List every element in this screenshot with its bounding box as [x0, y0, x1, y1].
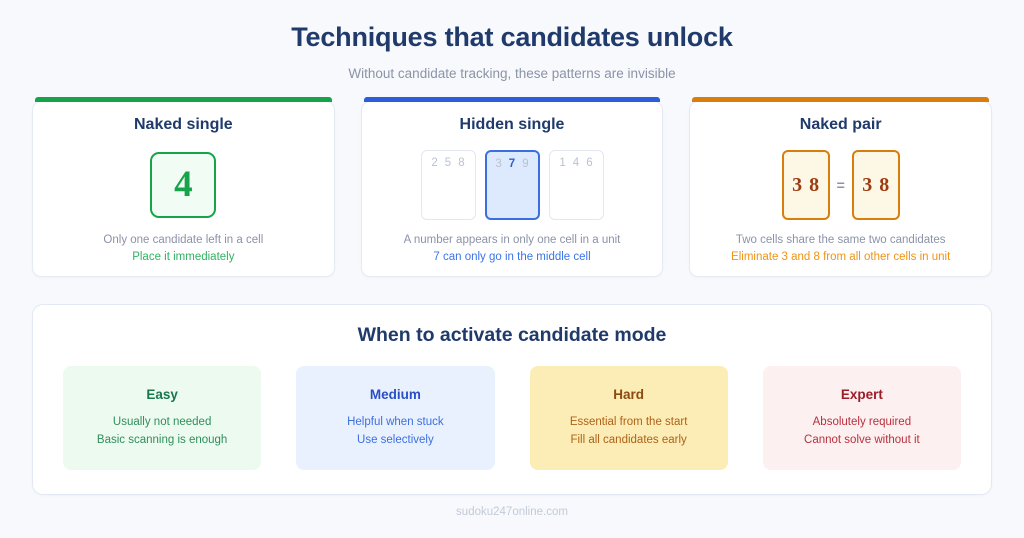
difficulty-name: Easy [146, 387, 178, 402]
technique-highlight: Place it immediately [132, 249, 234, 266]
candidate-digit: 6 [586, 158, 592, 170]
difficulty-name: Medium [370, 387, 421, 402]
difficulty-line: Use selectively [357, 432, 434, 449]
technique-card-hidden-single: Hidden single 2 5 8 3 7 9 [361, 101, 664, 277]
candidate-digit-picked: 7 [509, 159, 515, 171]
pair-cell-left: 3 8 [782, 150, 830, 220]
candidate-digit: 8 [458, 158, 464, 170]
sudoku-cell-solved: 4 [150, 152, 216, 218]
candidate-digit: 4 [573, 158, 579, 170]
candidate-cell-highlighted: 3 7 9 [485, 150, 540, 220]
difficulty-line: Usually not needed [113, 414, 211, 431]
difficulty-line: Basic scanning is enough [97, 432, 227, 449]
technique-cards-row: Naked single 4 Only one candidate left i… [32, 101, 992, 277]
page-subtitle: Without candidate tracking, these patter… [32, 66, 992, 81]
technique-visual-hidden-single: 2 5 8 3 7 9 1 [374, 138, 651, 232]
technique-card-naked-pair: Naked pair 3 8 = 3 8 Two cells share the… [689, 101, 992, 277]
equals-icon: = [837, 177, 845, 193]
candidate-cell: 1 4 6 [549, 150, 604, 220]
technique-visual-naked-single: 4 [45, 138, 322, 232]
candidate-digit: 5 [445, 158, 451, 170]
candidate-cell: 2 5 8 [421, 150, 476, 220]
difficulty-line: Absolutely required [813, 414, 911, 431]
candidate-mode-panel: When to activate candidate mode Easy Usu… [32, 304, 992, 495]
card-accent-bar [692, 97, 989, 102]
technique-description: Two cells share the same two candidates [736, 232, 946, 249]
candidate-digit: 3 [495, 159, 501, 171]
difficulty-card-hard: Hard Essential from the start Fill all c… [530, 366, 728, 470]
difficulty-line: Fill all candidates early [570, 432, 686, 449]
candidate-row: 2 5 8 [431, 158, 464, 170]
pair-cell-right: 3 8 [852, 150, 900, 220]
technique-highlight: Eliminate 3 and 8 from all other cells i… [731, 249, 950, 266]
difficulty-line: Helpful when stuck [347, 414, 444, 431]
difficulty-line: Essential from the start [570, 414, 688, 431]
candidate-digit: 2 [431, 158, 437, 170]
technique-visual-naked-pair: 3 8 = 3 8 [702, 138, 979, 232]
pair-digit: 3 [792, 175, 802, 195]
technique-highlight: 7 can only go in the middle cell [433, 249, 590, 266]
page-title: Techniques that candidates unlock [32, 22, 992, 53]
technique-title: Hidden single [460, 116, 565, 134]
candidate-digit: 9 [522, 159, 528, 171]
candidate-digit: 1 [559, 158, 565, 170]
technique-description: A number appears in only one cell in a u… [404, 232, 621, 249]
footer-site-label: sudoku247online.com [32, 506, 992, 518]
pair-cell-group: 3 8 = 3 8 [782, 150, 900, 220]
difficulty-card-medium: Medium Helpful when stuck Use selectivel… [296, 366, 494, 470]
card-accent-bar [35, 97, 332, 102]
infographic-page: Techniques that candidates unlock Withou… [0, 0, 1024, 538]
difficulty-card-expert: Expert Absolutely required Cannot solve … [763, 366, 961, 470]
candidate-cell-group: 2 5 8 3 7 9 1 [421, 150, 604, 220]
technique-title: Naked single [134, 116, 233, 134]
difficulty-name: Expert [841, 387, 883, 402]
difficulty-card-easy: Easy Usually not needed Basic scanning i… [63, 366, 261, 470]
technique-description: Only one candidate left in a cell [103, 232, 263, 249]
candidate-row: 1 4 6 [559, 158, 592, 170]
difficulty-line: Cannot solve without it [804, 432, 920, 449]
pair-digit: 3 [862, 175, 872, 195]
card-accent-bar [364, 97, 661, 102]
pair-digit: 8 [809, 175, 819, 195]
candidate-row: 3 7 9 [495, 159, 528, 171]
difficulty-name: Hard [613, 387, 644, 402]
pair-digit: 8 [879, 175, 889, 195]
technique-title: Naked pair [800, 116, 882, 134]
difficulty-row: Easy Usually not needed Basic scanning i… [63, 366, 961, 470]
technique-card-naked-single: Naked single 4 Only one candidate left i… [32, 101, 335, 277]
panel-title: When to activate candidate mode [63, 324, 961, 347]
